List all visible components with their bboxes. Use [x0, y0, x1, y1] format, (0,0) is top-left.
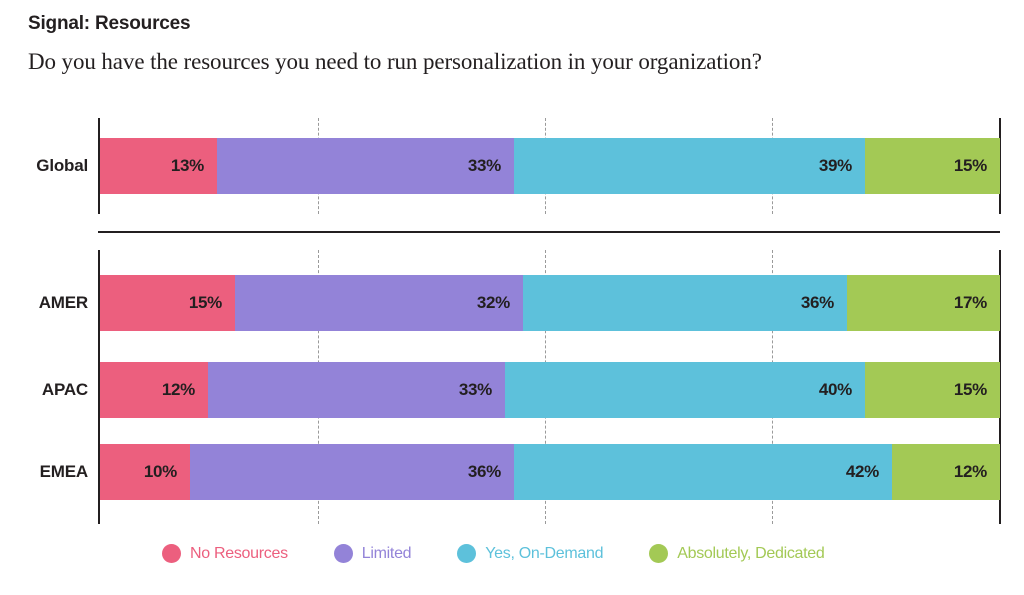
row-label-emea: EMEA [0, 444, 88, 500]
chart-group-global: Global 13% 33% 39% 15% [0, 118, 1024, 214]
table-row[interactable]: APAC 12% 33% 40% 15% [0, 362, 1024, 418]
table-row[interactable]: AMER 15% 32% 36% 17% [0, 275, 1024, 331]
bar-value-label: 33% [468, 156, 501, 176]
legend-label: Yes, On-Demand [485, 545, 603, 563]
bar-segment-absolutely-dedicated[interactable]: 15% [865, 138, 1000, 194]
bar-segment-no-resources[interactable]: 15% [100, 275, 235, 331]
bar-segment-absolutely-dedicated[interactable]: 17% [847, 275, 1000, 331]
table-row[interactable]: EMEA 10% 36% 42% 12% [0, 444, 1024, 500]
stacked-bar-apac: 12% 33% 40% 15% [100, 362, 1000, 418]
bar-value-label: 33% [459, 380, 492, 400]
bar-value-label: 15% [954, 380, 987, 400]
legend-label: Limited [362, 545, 411, 563]
bar-segment-limited[interactable]: 36% [190, 444, 514, 500]
legend-swatch-icon [162, 544, 181, 563]
bar-value-label: 13% [171, 156, 204, 176]
bar-value-label: 12% [162, 380, 195, 400]
bar-segment-absolutely-dedicated[interactable]: 12% [892, 444, 1000, 500]
legend-item-no-resources[interactable]: No Resources [162, 544, 288, 563]
legend-item-absolutely-dedicated[interactable]: Absolutely, Dedicated [649, 544, 824, 563]
bar-value-label: 15% [189, 293, 222, 313]
bar-segment-limited[interactable]: 32% [235, 275, 523, 331]
bar-value-label: 42% [846, 462, 879, 482]
bar-segment-no-resources[interactable]: 12% [100, 362, 208, 418]
table-row[interactable]: Global 13% 33% 39% 15% [0, 138, 1024, 194]
stacked-bar-chart: Global 13% 33% 39% 15% [0, 0, 1024, 595]
bar-value-label: 10% [144, 462, 177, 482]
bar-value-label: 36% [801, 293, 834, 313]
bar-segment-yes-on-demand[interactable]: 39% [514, 138, 865, 194]
legend-label: No Resources [190, 545, 288, 563]
stacked-bar-global: 13% 33% 39% 15% [100, 138, 1000, 194]
chart-group-regions: AMER 15% 32% 36% 17% APAC [0, 250, 1024, 524]
legend-swatch-icon [457, 544, 476, 563]
legend-item-yes-on-demand[interactable]: Yes, On-Demand [457, 544, 603, 563]
bar-segment-limited[interactable]: 33% [217, 138, 514, 194]
legend-label: Absolutely, Dedicated [677, 545, 824, 563]
bar-segment-absolutely-dedicated[interactable]: 15% [865, 362, 1000, 418]
bar-value-label: 12% [954, 462, 987, 482]
chart-legend: No Resources Limited Yes, On-Demand Abso… [162, 544, 871, 563]
row-label-apac: APAC [0, 362, 88, 418]
bar-value-label: 36% [468, 462, 501, 482]
legend-item-limited[interactable]: Limited [334, 544, 411, 563]
row-label-global: Global [0, 138, 88, 194]
bar-segment-yes-on-demand[interactable]: 36% [523, 275, 847, 331]
bar-value-label: 32% [477, 293, 510, 313]
bar-segment-no-resources[interactable]: 10% [100, 444, 190, 500]
stacked-bar-emea: 10% 36% 42% 12% [100, 444, 1000, 500]
legend-swatch-icon [649, 544, 668, 563]
bar-value-label: 39% [819, 156, 852, 176]
bar-segment-no-resources[interactable]: 13% [100, 138, 217, 194]
row-label-amer: AMER [0, 275, 88, 331]
bar-value-label: 17% [954, 293, 987, 313]
legend-swatch-icon [334, 544, 353, 563]
stacked-bar-amer: 15% 32% 36% 17% [100, 275, 1000, 331]
group-separator [98, 231, 1000, 233]
bar-value-label: 40% [819, 380, 852, 400]
bar-segment-limited[interactable]: 33% [208, 362, 505, 418]
bar-value-label: 15% [954, 156, 987, 176]
bar-segment-yes-on-demand[interactable]: 42% [514, 444, 892, 500]
bar-segment-yes-on-demand[interactable]: 40% [505, 362, 865, 418]
